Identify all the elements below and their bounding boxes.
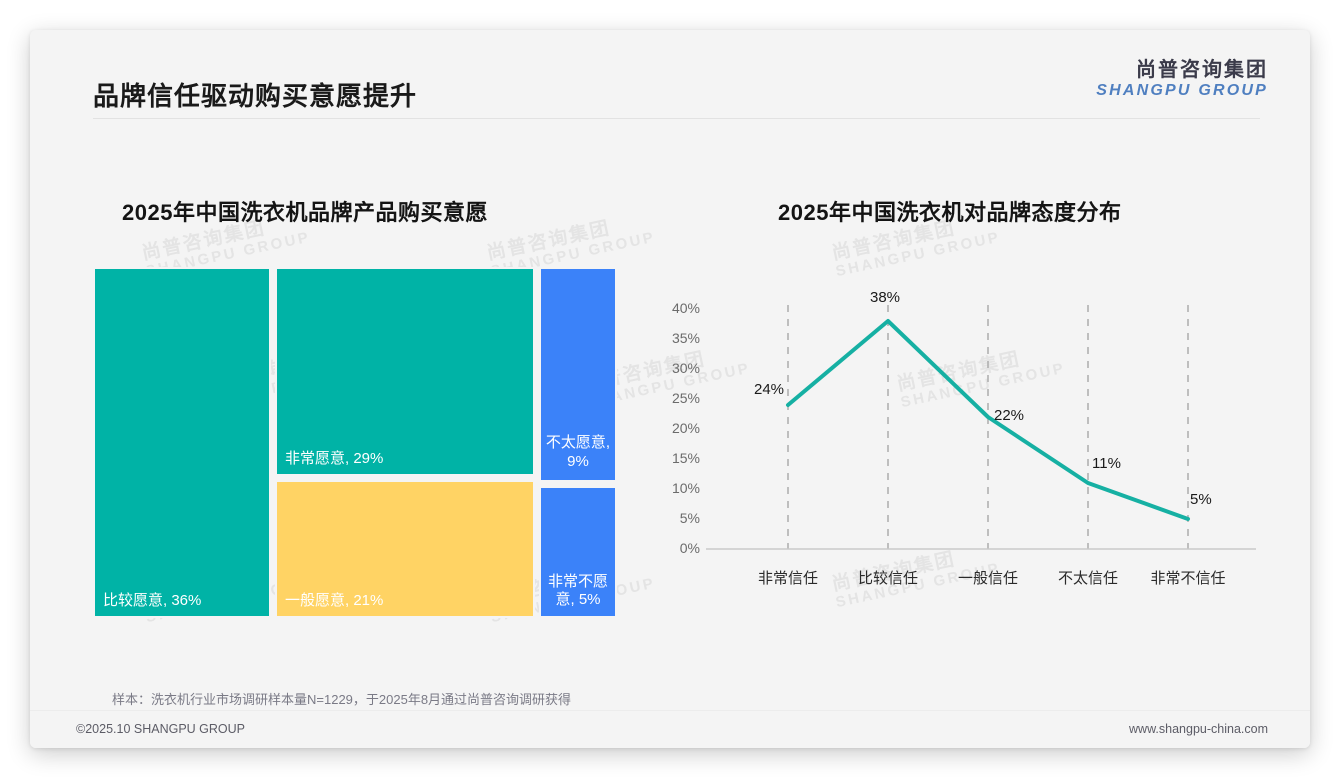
- data-point-label: 22%: [994, 407, 1024, 424]
- treemap-cell[interactable]: 比较愿意, 36%: [93, 267, 271, 618]
- x-tick-label: 不太信任: [1058, 567, 1118, 588]
- y-tick-label: 25%: [656, 390, 700, 406]
- treemap-chart: 比较愿意, 36% 非常愿意, 29% 一般愿意, 21% 不太愿意, 9% 非…: [93, 267, 641, 618]
- x-tick-label: 一般信任: [958, 567, 1018, 588]
- data-point-label: 11%: [1092, 455, 1121, 472]
- slide-header: 品牌信任驱动购买意愿提升 尚普咨询集团 SHANGPU GROUP: [30, 30, 1310, 119]
- treemap-cell-label: 非常不愿意, 5%: [545, 573, 611, 611]
- treemap-cell[interactable]: 非常愿意, 29%: [275, 267, 535, 476]
- y-tick-label: 10%: [656, 480, 700, 496]
- y-tick-label: 0%: [656, 540, 700, 556]
- footer-copyright: ©2025.10 SHANGPU GROUP: [76, 722, 245, 736]
- brand-logo: 尚普咨询集团 SHANGPU GROUP: [1096, 60, 1268, 100]
- y-tick-label: 30%: [656, 360, 700, 376]
- logo-text-cn: 尚普咨询集团: [1096, 60, 1268, 81]
- header-divider: [93, 118, 1260, 119]
- treemap-cell[interactable]: 非常不愿意, 5%: [539, 486, 617, 618]
- treemap-cell-label: 比较愿意, 36%: [103, 589, 201, 610]
- data-point-label: 5%: [1190, 491, 1212, 508]
- left-chart-title: 2025年中国洗衣机品牌产品购买意愿: [122, 195, 488, 227]
- x-tick-label: 非常不信任: [1150, 567, 1225, 588]
- page-title: 品牌信任驱动购买意愿提升: [93, 76, 417, 113]
- treemap-cell[interactable]: 不太愿意, 9%: [539, 267, 617, 482]
- x-tick-label: 比较信任: [858, 567, 918, 588]
- treemap-cell-label: 不太愿意, 9%: [545, 434, 611, 472]
- line-chart: 0%5%10%15%20%25%30%35%40% 非常信任比较信任一般信任不太…: [650, 267, 1260, 627]
- slide-page: 尚普咨询集团 SHANGPU GROUP 尚普咨询集团 SHANGPU GROU…: [30, 30, 1310, 748]
- treemap-cell-label: 一般愿意, 21%: [285, 589, 383, 610]
- footer-website: www.shangpu-china.com: [1129, 722, 1268, 736]
- watermark-cn: 尚普咨询集团: [485, 209, 654, 265]
- data-point-label: 24%: [754, 381, 784, 398]
- y-tick-label: 15%: [656, 450, 700, 466]
- right-chart-title: 2025年中国洗衣机对品牌态度分布: [778, 195, 1121, 227]
- y-tick-label: 35%: [656, 330, 700, 346]
- x-tick-label: 非常信任: [758, 567, 818, 588]
- treemap-cell[interactable]: 一般愿意, 21%: [275, 480, 535, 618]
- slide-footer: ©2025.10 SHANGPU GROUP www.shangpu-china…: [30, 710, 1310, 748]
- treemap-cell-label: 非常愿意, 29%: [285, 447, 383, 468]
- logo-text-en: SHANGPU GROUP: [1096, 83, 1268, 100]
- y-tick-label: 40%: [656, 300, 700, 316]
- data-point-label: 38%: [870, 289, 900, 306]
- y-tick-label: 5%: [656, 510, 700, 526]
- sample-footnote: 样本：洗衣机行业市场调研样本量N=1229，于2025年8月通过尚普咨询调研获得: [112, 689, 571, 708]
- y-tick-label: 20%: [656, 420, 700, 436]
